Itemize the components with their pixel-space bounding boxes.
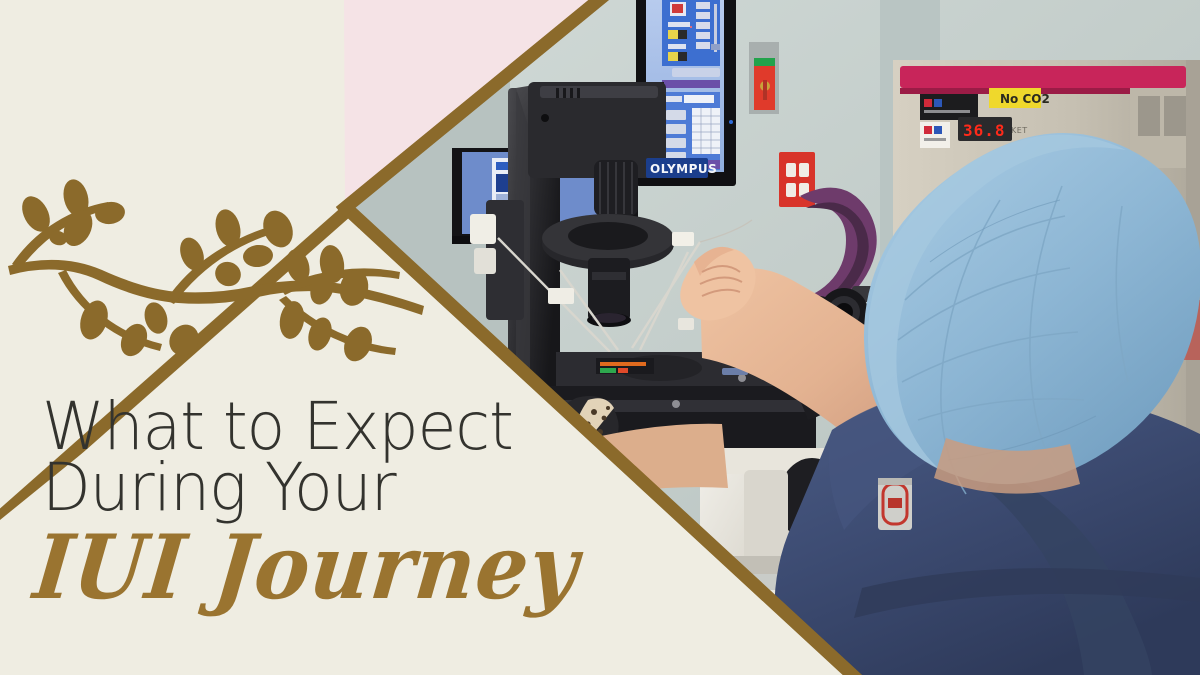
no-co2-label-text: No CO2 xyxy=(1000,92,1050,106)
headline-line-2: During Your xyxy=(42,457,541,518)
pipette-holder-left xyxy=(548,288,574,304)
promo-banner: WATER JACKET No CO2 36.8 xyxy=(0,0,1200,675)
olympus-badge-text: OLYMPUS xyxy=(650,162,717,176)
manipulator-clamp-left xyxy=(470,214,496,244)
headline-script-line: IUI Journey xyxy=(30,523,583,612)
objective-lens xyxy=(588,258,630,320)
monitor-power-led xyxy=(729,120,733,124)
pipette-holder-right xyxy=(672,232,694,246)
incubator-top-trim xyxy=(900,66,1186,88)
headline-line-1: What to Expect xyxy=(42,396,541,457)
headline-block: What to Expect During Your xyxy=(42,396,562,519)
temperature-value: 36.8 xyxy=(963,121,1006,140)
olive-branch-ornament xyxy=(6,178,426,368)
